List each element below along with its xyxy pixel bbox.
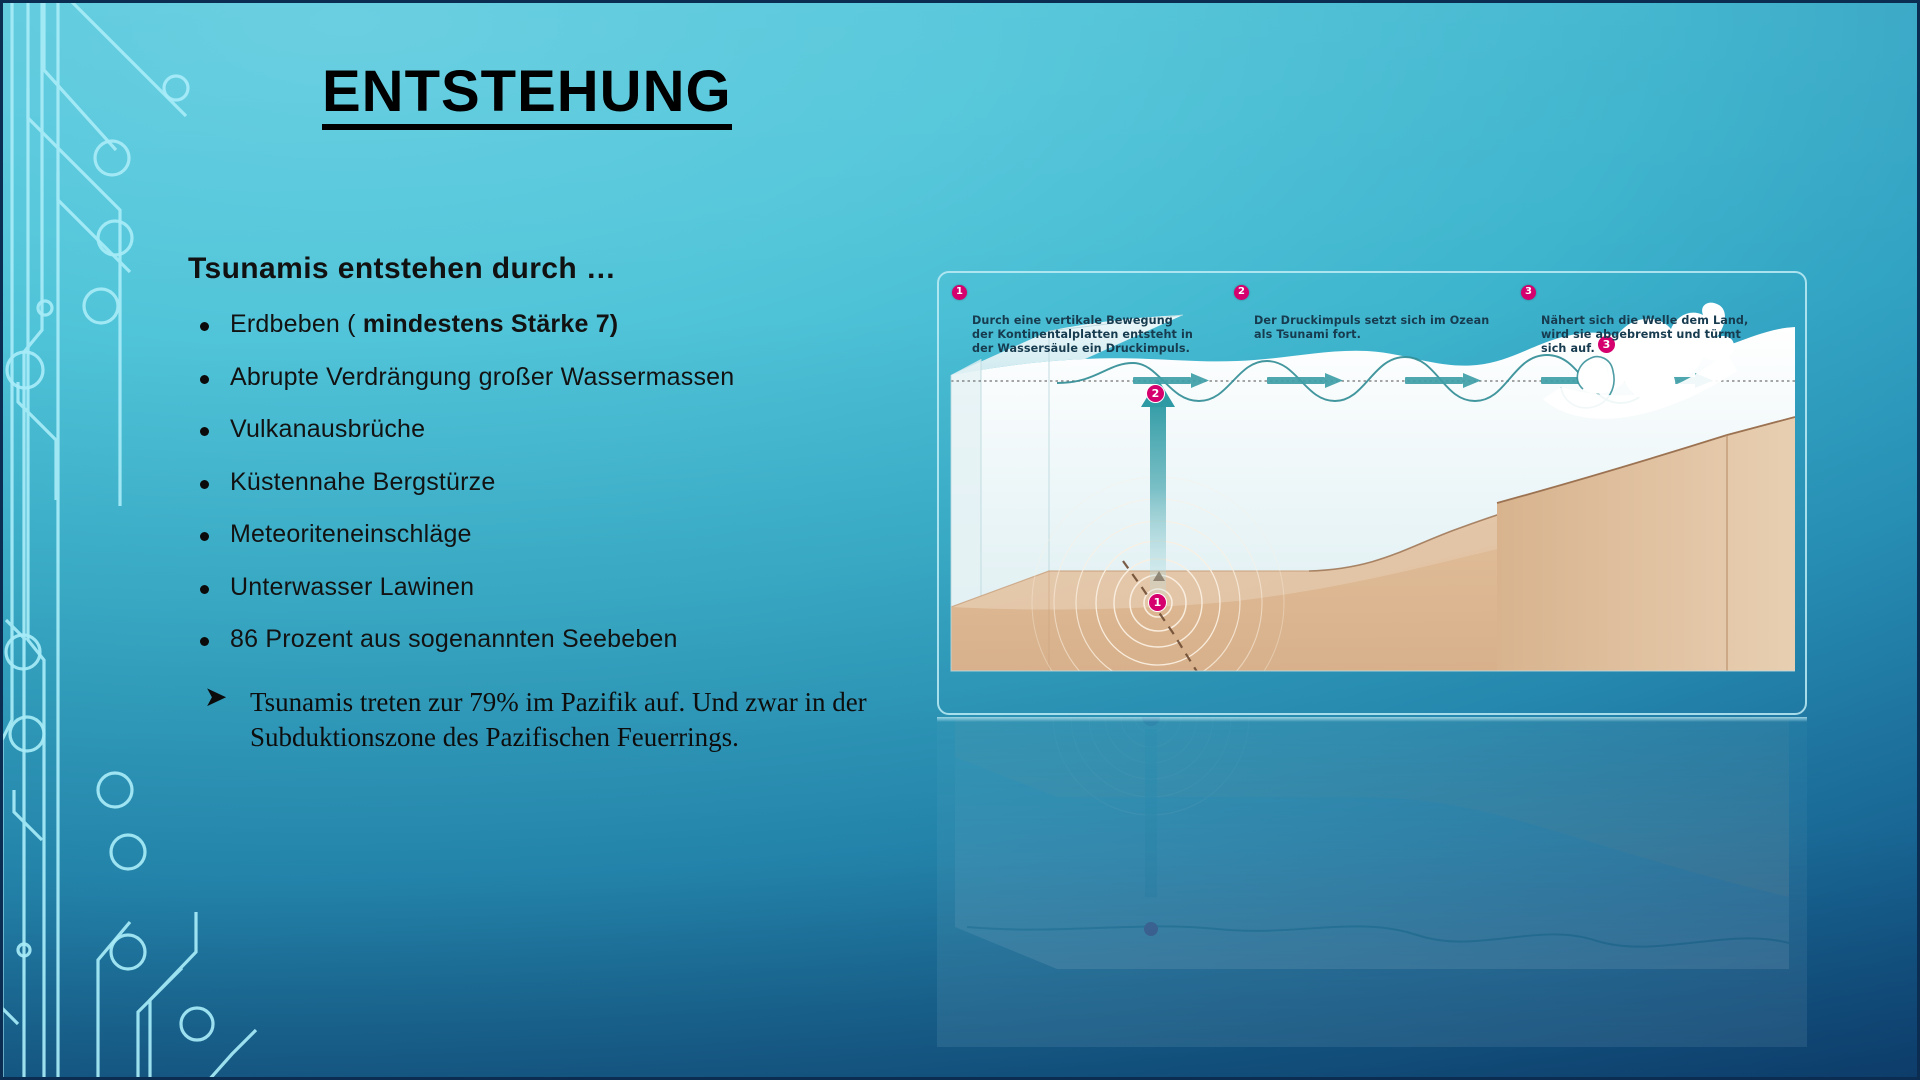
list-item: Meteoriteneinschläge xyxy=(188,520,868,550)
diagram-label-2-text: Der Druckimpuls setzt sich im Ozean als … xyxy=(1254,314,1489,341)
diagram-marker-1: 1 xyxy=(1148,593,1167,612)
lead-heading: Tsunamis entstehen durch … xyxy=(188,252,868,286)
pacific-note: ➤ Tsunamis treten zur 79% im Pazifik auf… xyxy=(188,685,868,755)
list-item: 86 Prozent aus sogenannten Seebeben xyxy=(188,625,868,655)
causes-list: Erdbeben ( mindestens Stärke 7) Abrupte … xyxy=(188,310,868,655)
diagram-label-3-text: Nähert sich die Welle dem Land, wird sie… xyxy=(1541,314,1748,356)
diagram-label-1: 1 Durch eine vertikale Bewegung der Kont… xyxy=(972,285,1202,357)
page-title-wrap: ENTSTEHUNG xyxy=(322,62,732,130)
bullet-text: Erdbeben ( xyxy=(230,310,363,338)
bullet-text: Vulkanausbrüche xyxy=(230,415,425,443)
diagram-label-3: 3 Nähert sich die Welle dem Land, wird s… xyxy=(1541,285,1791,357)
diagram-label-2: 2 Der Druckimpuls setzt sich im Ozean al… xyxy=(1254,285,1494,342)
list-item: Küstennahe Bergstürze xyxy=(188,468,868,498)
bullet-text: Unterwasser Lawinen xyxy=(230,573,474,601)
arrow-bullet-icon: ➤ xyxy=(204,683,227,711)
diagram-label-3-number: 3 xyxy=(1521,285,1536,300)
content-column: Tsunamis entstehen durch … Erdbeben ( mi… xyxy=(188,252,868,755)
bullet-text: Meteoriteneinschläge xyxy=(230,520,472,548)
diagram-label-1-text: Durch eine vertikale Bewegung der Kontin… xyxy=(972,314,1193,356)
pacific-note-text: Tsunamis treten zur 79% im Pazifik auf. … xyxy=(250,687,867,752)
list-item: Unterwasser Lawinen xyxy=(188,573,868,603)
list-item: Vulkanausbrüche xyxy=(188,415,868,445)
bullet-text: Küstennahe Bergstürze xyxy=(230,468,495,496)
diagram-label-2-number: 2 xyxy=(1234,285,1249,300)
list-item: Abrupte Verdrängung großer Wassermassen xyxy=(188,363,868,393)
tsunami-diagram: 1 2 3 1 Durch eine vertikale Bewegung de… xyxy=(937,271,1807,715)
list-item: Erdbeben ( mindestens Stärke 7) xyxy=(188,310,868,340)
bullet-text-bold: mindestens Stärke 7) xyxy=(363,310,619,338)
bullet-text: Abrupte Verdrängung großer Wassermassen xyxy=(230,363,734,391)
page-title: ENTSTEHUNG xyxy=(322,62,732,130)
bullet-text: 86 Prozent aus sogenannten Seebeben xyxy=(230,625,678,653)
diagram-marker-2: 2 xyxy=(1146,384,1165,403)
diagram-label-1-number: 1 xyxy=(952,285,967,300)
